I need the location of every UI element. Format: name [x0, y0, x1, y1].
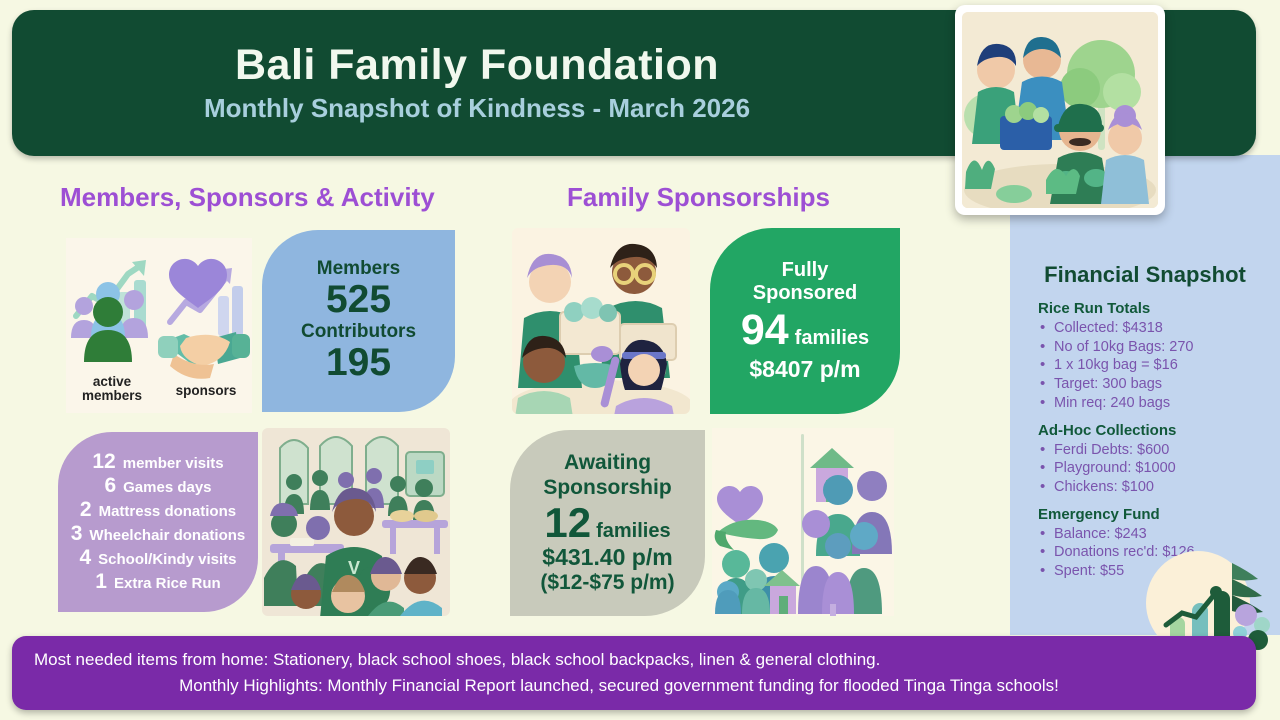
activity-label: Wheelchair donations	[89, 527, 245, 544]
financial-group-title: Emergency Fund	[1038, 506, 1280, 523]
list-item: 1 x 10kg bag = $16	[1038, 356, 1280, 375]
financial-group-list: Ferdi Debts: $600 Playground: $1000 Chic…	[1038, 441, 1280, 497]
awaiting-count-row: 12 families	[544, 502, 670, 544]
members-value: 525	[326, 280, 391, 321]
banner-monthly-highlights: Monthly Highlights: Monthly Financial Re…	[12, 676, 1256, 696]
page-title: Bali Family Foundation	[235, 43, 719, 88]
families-illustration	[712, 428, 894, 616]
activity-summary-card: 12 member visits 6 Games days 2 Mattress…	[58, 432, 258, 612]
list-item: 3 Wheelchair donations	[71, 522, 246, 546]
infographic-canvas: Financial Snapshot Rice Run Totals Colle…	[0, 0, 1280, 720]
list-item: Collected: $4318	[1038, 319, 1280, 338]
bottom-banner: Most needed items from home: Stationery,…	[12, 636, 1256, 710]
banner-needed-items: Most needed items from home: Stationery,…	[34, 650, 1256, 670]
contributors-label: Contributors	[301, 321, 416, 343]
list-item: Donations rec'd: $126	[1038, 543, 1280, 562]
list-item: Min req: 240 bags	[1038, 394, 1280, 413]
activity-label: member visits	[123, 455, 224, 472]
fully-sponsored-value: 94	[741, 309, 789, 352]
list-item: 12 member visits	[92, 450, 223, 474]
awaiting-value: 12	[544, 502, 591, 544]
list-item: 1 Extra Rice Run	[95, 570, 220, 594]
hero-photo-frame	[955, 5, 1165, 215]
awaiting-range: ($12-$75 p/m)	[540, 571, 674, 595]
fully-sponsored-label-line2: Sponsored	[753, 282, 857, 305]
page-subtitle: Monthly Snapshot of Kindness - March 202…	[204, 94, 750, 123]
section-heading-sponsorships: Family Sponsorships	[567, 182, 830, 213]
financial-group-emergency-fund: Emergency Fund Balance: $243 Donations r…	[1010, 506, 1280, 581]
list-item: Chickens: $100	[1038, 478, 1280, 497]
financial-group-title: Rice Run Totals	[1038, 300, 1280, 317]
members-stats-card: Members 525 Contributors 195	[262, 230, 455, 412]
activity-label: School/Kindy visits	[98, 551, 236, 568]
awaiting-sponsorship-card: Awaiting Sponsorship 12 families $431.40…	[510, 430, 705, 616]
activity-label: Mattress donations	[99, 503, 237, 520]
activity-count: 2	[80, 498, 92, 522]
caption-line-1: active	[93, 374, 131, 389]
financial-group-rice-run: Rice Run Totals Collected: $4318 No of 1…	[1010, 300, 1280, 413]
list-item: Balance: $243	[1038, 525, 1280, 544]
awaiting-label-line1: Awaiting	[564, 451, 651, 475]
financial-group-list: Balance: $243 Donations rec'd: $126 Spen…	[1038, 525, 1280, 581]
financial-group-title: Ad-Hoc Collections	[1038, 422, 1280, 439]
list-item: Target: 300 bags	[1038, 375, 1280, 394]
list-item: Playground: $1000	[1038, 459, 1280, 478]
fully-sponsored-card: Fully Sponsored 94 families $8407 p/m	[710, 228, 900, 414]
activity-label: Extra Rice Run	[114, 575, 221, 592]
financial-group-list: Collected: $4318 No of 10kg Bags: 270 1 …	[1038, 319, 1280, 413]
fully-sponsored-amount: $8407 p/m	[749, 356, 860, 383]
volunteers-photo	[962, 12, 1158, 208]
activity-label: Games days	[123, 479, 211, 496]
list-item: 2 Mattress donations	[80, 498, 236, 522]
list-item: No of 10kg Bags: 270	[1038, 338, 1280, 357]
fully-sponsored-count-row: 94 families	[741, 309, 869, 352]
list-item: 4 School/Kindy visits	[79, 546, 236, 570]
awaiting-amount: $431.40 p/m	[542, 544, 672, 570]
fully-sponsored-label-line1: Fully	[782, 259, 829, 282]
activity-count: 3	[71, 522, 83, 546]
financial-group-ad-hoc: Ad-Hoc Collections Ferdi Debts: $600 Pla…	[1010, 422, 1280, 497]
school-visit-illustration: V	[262, 428, 450, 616]
list-item: 6 Games days	[104, 474, 211, 498]
list-item: Ferdi Debts: $600	[1038, 441, 1280, 460]
awaiting-unit: families	[596, 520, 670, 543]
caption-line-2: members	[82, 388, 142, 403]
caption-active-members: active members	[66, 375, 158, 404]
header-text-block: Bali Family Foundation Monthly Snapshot …	[12, 10, 942, 156]
activity-count: 6	[104, 474, 116, 498]
activity-count: 4	[79, 546, 91, 570]
food-distribution-illustration	[512, 228, 690, 414]
activity-count: 1	[95, 570, 107, 594]
activity-count: 12	[92, 450, 115, 474]
members-label: Members	[317, 258, 400, 280]
svg-text:V: V	[348, 558, 360, 578]
fully-sponsored-unit: families	[795, 327, 869, 350]
list-item: Spent: $55	[1038, 562, 1280, 581]
caption-sponsors: sponsors	[160, 384, 252, 398]
section-heading-members: Members, Sponsors & Activity	[60, 182, 435, 213]
contributors-value: 195	[326, 343, 391, 384]
financial-snapshot-panel: Financial Snapshot Rice Run Totals Colle…	[1010, 155, 1280, 635]
awaiting-label-line2: Sponsorship	[543, 476, 671, 500]
